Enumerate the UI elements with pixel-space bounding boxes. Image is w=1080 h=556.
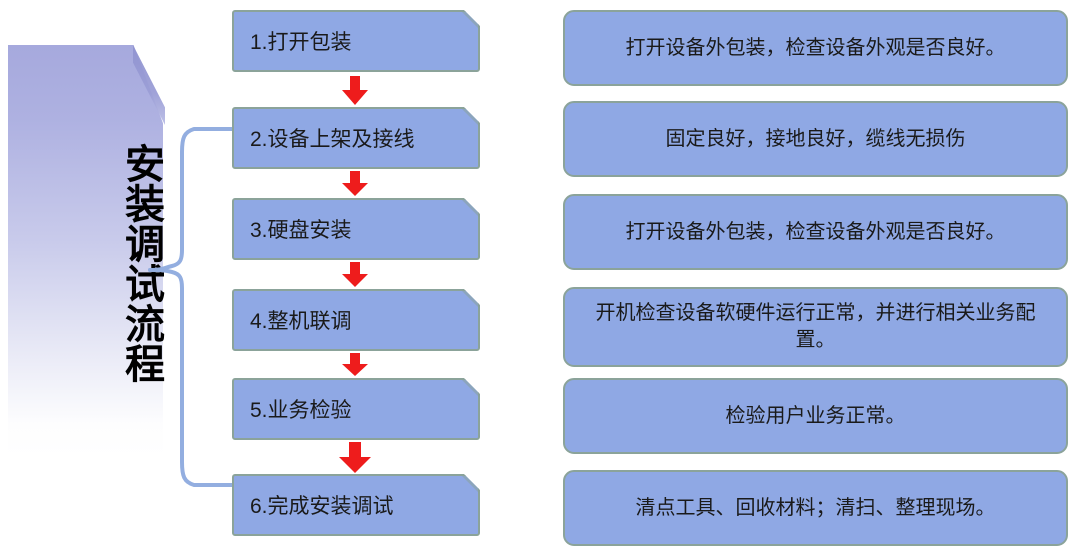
description-text: 清点工具、回收材料；清扫、整理现场。 (636, 495, 996, 522)
page-title: 安装调试流程 (8, 113, 163, 413)
arrow-step-3-to-4-icon (340, 262, 370, 288)
description-box-2[interactable]: 固定良好，接地良好，缆线无损伤 (563, 101, 1068, 177)
arrow-step-2-to-3-icon (340, 171, 370, 197)
diagram-canvas: 安装调试流程 1.打开包装 2.设备上架及接线 3.硬盘安装 4.整机联调 5.… (0, 0, 1080, 556)
flow-step-label: 4.整机联调 (250, 305, 352, 335)
title-panel: 安装调试流程 (8, 45, 163, 457)
flow-step-box-1[interactable]: 1.打开包装 (232, 10, 480, 72)
description-box-3[interactable]: 打开设备外包装，检查设备外观是否良好。 (563, 194, 1068, 270)
snip-corner-icon (461, 108, 479, 126)
snip-corner-icon (461, 379, 479, 397)
flow-step-label: 6.完成安装调试 (250, 490, 394, 520)
flow-step-label: 5.业务检验 (250, 394, 352, 424)
snip-corner-icon (461, 290, 479, 308)
flow-step-label: 1.打开包装 (250, 26, 352, 56)
description-text: 检验用户业务正常。 (726, 403, 906, 430)
flow-step-box-6[interactable]: 6.完成安装调试 (232, 474, 480, 536)
snip-corner-icon (461, 475, 479, 493)
description-box-1[interactable]: 打开设备外包装，检查设备外观是否良好。 (563, 10, 1068, 86)
flow-step-box-2[interactable]: 2.设备上架及接线 (232, 107, 480, 169)
flow-step-box-3[interactable]: 3.硬盘安装 (232, 198, 480, 260)
description-text: 开机检查设备软硬件运行正常，并进行相关业务配置。 (583, 300, 1048, 354)
flow-step-box-5[interactable]: 5.业务检验 (232, 378, 480, 440)
description-text: 打开设备外包装，检查设备外观是否良好。 (626, 35, 1006, 62)
description-text: 固定良好，接地良好，缆线无损伤 (666, 126, 966, 153)
flow-step-label: 2.设备上架及接线 (250, 123, 415, 153)
flow-step-box-4[interactable]: 4.整机联调 (232, 289, 480, 351)
arrow-step-1-to-2-icon (340, 76, 370, 106)
flow-step-label: 3.硬盘安装 (250, 214, 352, 244)
snip-corner-icon (461, 199, 479, 217)
description-box-6[interactable]: 清点工具、回收材料；清扫、整理现场。 (563, 470, 1068, 546)
arrow-step-5-to-6-icon (337, 442, 373, 474)
description-box-4[interactable]: 开机检查设备软硬件运行正常，并进行相关业务配置。 (563, 287, 1068, 367)
snip-corner-icon (461, 11, 479, 29)
description-box-5[interactable]: 检验用户业务正常。 (563, 378, 1068, 454)
description-text: 打开设备外包装，检查设备外观是否良好。 (626, 219, 1006, 246)
arrow-step-4-to-5-icon (340, 353, 370, 377)
